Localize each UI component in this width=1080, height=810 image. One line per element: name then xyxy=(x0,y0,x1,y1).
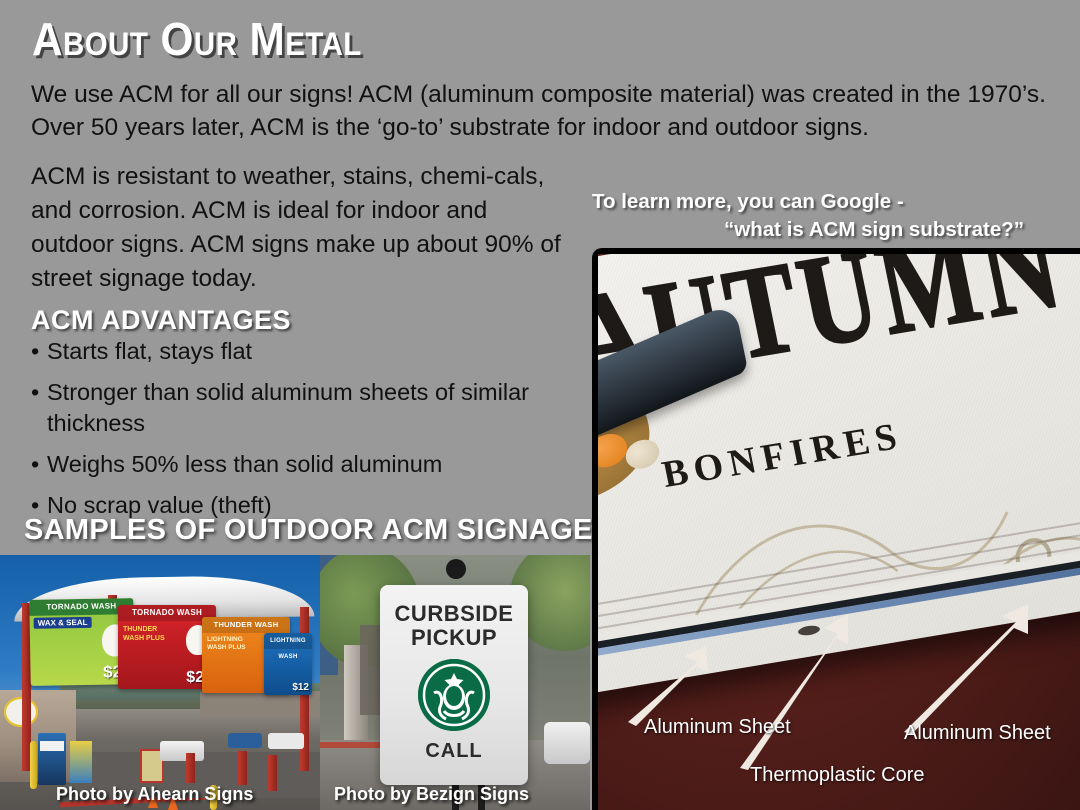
list-item-label: Stronger than solid aluminum sheets of s… xyxy=(47,377,576,439)
post-finial-icon xyxy=(446,559,466,579)
bullet-icon: • xyxy=(31,377,47,439)
curbside-pickup-sign: CURBSIDE PICKUP CALL xyxy=(380,585,528,785)
price-panel: LIGHTNING WASH $12 xyxy=(264,633,312,695)
red-post xyxy=(238,751,247,785)
kiosk-sign-text xyxy=(40,741,64,751)
white-car xyxy=(544,722,590,764)
mascot-logo xyxy=(4,697,38,727)
slide-root: About Our Metal We use ACM for all our s… xyxy=(0,0,1080,810)
advantages-heading: ACM ADVANTAGES xyxy=(31,305,291,336)
google-note: To learn more, you can Google - “what is… xyxy=(592,188,1032,244)
list-item: • Stronger than solid aluminum sheets of… xyxy=(31,377,576,439)
parked-truck xyxy=(160,741,204,761)
acm-cross-section-photo: AUTUMN BONFIRES xyxy=(592,248,1080,810)
starbucks-siren-logo-icon xyxy=(418,659,490,731)
callout-label-aluminum-left: Aluminum Sheet xyxy=(644,716,791,739)
photo-backdrop: AUTUMN BONFIRES xyxy=(598,254,1080,810)
page-title: About Our Metal xyxy=(32,12,362,66)
carwash-sample-photo: TORNADO WASH WAX & SEAL $22 TORNADO WASH… xyxy=(0,555,320,810)
callout-label-thermoplastic-core: Thermoplastic Core xyxy=(750,764,925,787)
siren-glyph xyxy=(418,659,490,731)
body-paragraph: ACM is resistant to weather, stains, che… xyxy=(31,160,576,296)
price-panel-header: THUNDER WASH xyxy=(202,617,290,633)
bullet-icon: • xyxy=(31,449,47,480)
list-item-label: Weighs 50% less than solid aluminum xyxy=(47,449,576,480)
price-panel-sub: LIGHTNING WASH PLUS xyxy=(207,636,247,652)
price-panel-header: LIGHTNING WASH xyxy=(264,633,312,649)
google-note-line1: To learn more, you can Google - xyxy=(592,190,904,213)
list-item: • Starts flat, stays flat xyxy=(31,336,576,367)
intro-paragraph: We use ACM for all our signs! ACM (alumi… xyxy=(31,78,1046,144)
price-value: $12 xyxy=(292,682,309,693)
photo-credit-left: Photo by Ahearn Signs xyxy=(56,784,253,805)
parked-car xyxy=(228,733,262,748)
list-item-label: Starts flat, stays flat xyxy=(47,336,576,367)
callout-label-aluminum-right: Aluminum Sheet xyxy=(904,722,1051,745)
list-item: • Weighs 50% less than solid aluminum xyxy=(31,449,576,480)
red-post xyxy=(268,755,277,791)
red-post xyxy=(186,753,195,783)
sign-line-3: CALL xyxy=(380,740,528,763)
starbucks-sample-photo: CURBSIDE PICKUP CALL xyxy=(320,555,590,810)
bullet-icon: • xyxy=(31,336,47,367)
bollard xyxy=(30,741,37,789)
vintage-truck-icon xyxy=(598,302,748,439)
photo-credit-right: Photo by Bezign Signs xyxy=(334,784,529,805)
google-note-line2: “what is ACM sign substrate?” xyxy=(592,216,1032,244)
price-panel-sub: WAX & SEAL xyxy=(34,617,92,629)
samples-heading: SAMPLES OF OUTDOOR ACM SIGNAGE xyxy=(24,514,593,547)
price-panel-sub: THUNDER WASH PLUS xyxy=(123,625,167,643)
sign-line-1: CURBSIDE xyxy=(380,601,528,627)
sign-line-2: PICKUP xyxy=(380,625,528,651)
advantages-list: • Starts flat, stays flat • Stronger tha… xyxy=(31,336,576,531)
parked-car xyxy=(268,733,304,749)
vending-display xyxy=(70,741,92,783)
